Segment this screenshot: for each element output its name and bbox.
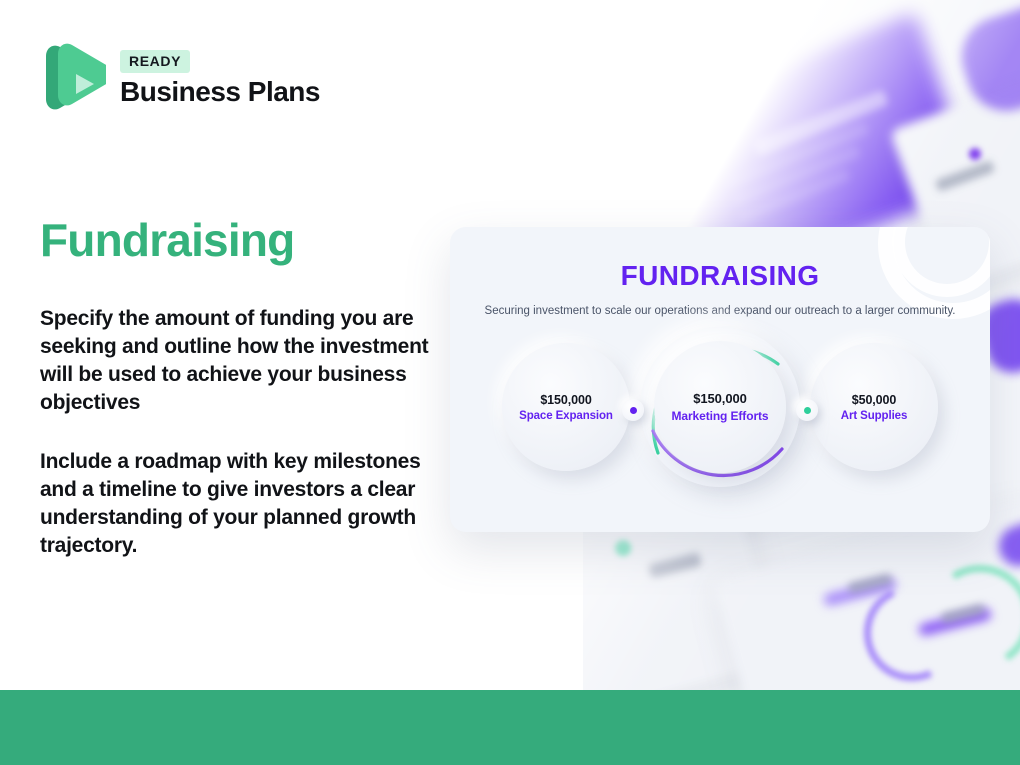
fundraising-card-content: FUNDRAISING Securing investment to scale… xyxy=(450,260,990,495)
node-label: Space Expansion xyxy=(519,410,613,422)
footer-bar xyxy=(0,690,1020,765)
fundraising-card-title: FUNDRAISING xyxy=(450,260,990,292)
fundraising-node-marketing-efforts[interactable]: $150,000 Marketing Efforts xyxy=(654,341,786,473)
bg-purple-blob-right xyxy=(951,0,1020,121)
node-amount: $50,000 xyxy=(852,393,897,407)
page-title: Fundraising xyxy=(40,215,294,266)
fundraising-node-art-supplies[interactable]: $50,000 Art Supplies xyxy=(810,343,938,471)
bg-dot-green xyxy=(615,540,631,556)
brand-name: Business Plans xyxy=(120,77,320,106)
connector-dot-left[interactable] xyxy=(622,399,644,421)
connector-dot-right-icon xyxy=(804,407,811,414)
node-label: Marketing Efforts xyxy=(672,409,769,423)
body-paragraph-2: Include a roadmap with key milestones an… xyxy=(40,448,440,561)
connector-dot-right[interactable] xyxy=(796,399,818,421)
bg-dot-purple-top xyxy=(969,148,981,160)
body-copy: Specify the amount of funding you are se… xyxy=(40,305,440,560)
play-triangle-logo-icon xyxy=(40,38,106,118)
brand-logo[interactable]: READY Business Plans xyxy=(40,38,320,118)
node-amount: $150,000 xyxy=(540,393,591,407)
node-label: Art Supplies xyxy=(841,410,908,422)
connector-dot-left-icon xyxy=(630,407,637,414)
fundraising-node-space-expansion[interactable]: $150,000 Space Expansion xyxy=(502,343,630,471)
fundraising-card-subtitle: Securing investment to scale our operati… xyxy=(450,303,990,319)
fundraising-diagram: $150,000 Space Expansion $50,000 Art Sup… xyxy=(450,325,990,495)
ready-badge: READY xyxy=(120,50,190,73)
node-amount: $150,000 xyxy=(693,391,746,406)
fundraising-card: FUNDRAISING Securing investment to scale… xyxy=(450,227,990,532)
body-paragraph-1: Specify the amount of funding you are se… xyxy=(40,305,440,418)
brand-wordmark: READY Business Plans xyxy=(120,50,320,106)
